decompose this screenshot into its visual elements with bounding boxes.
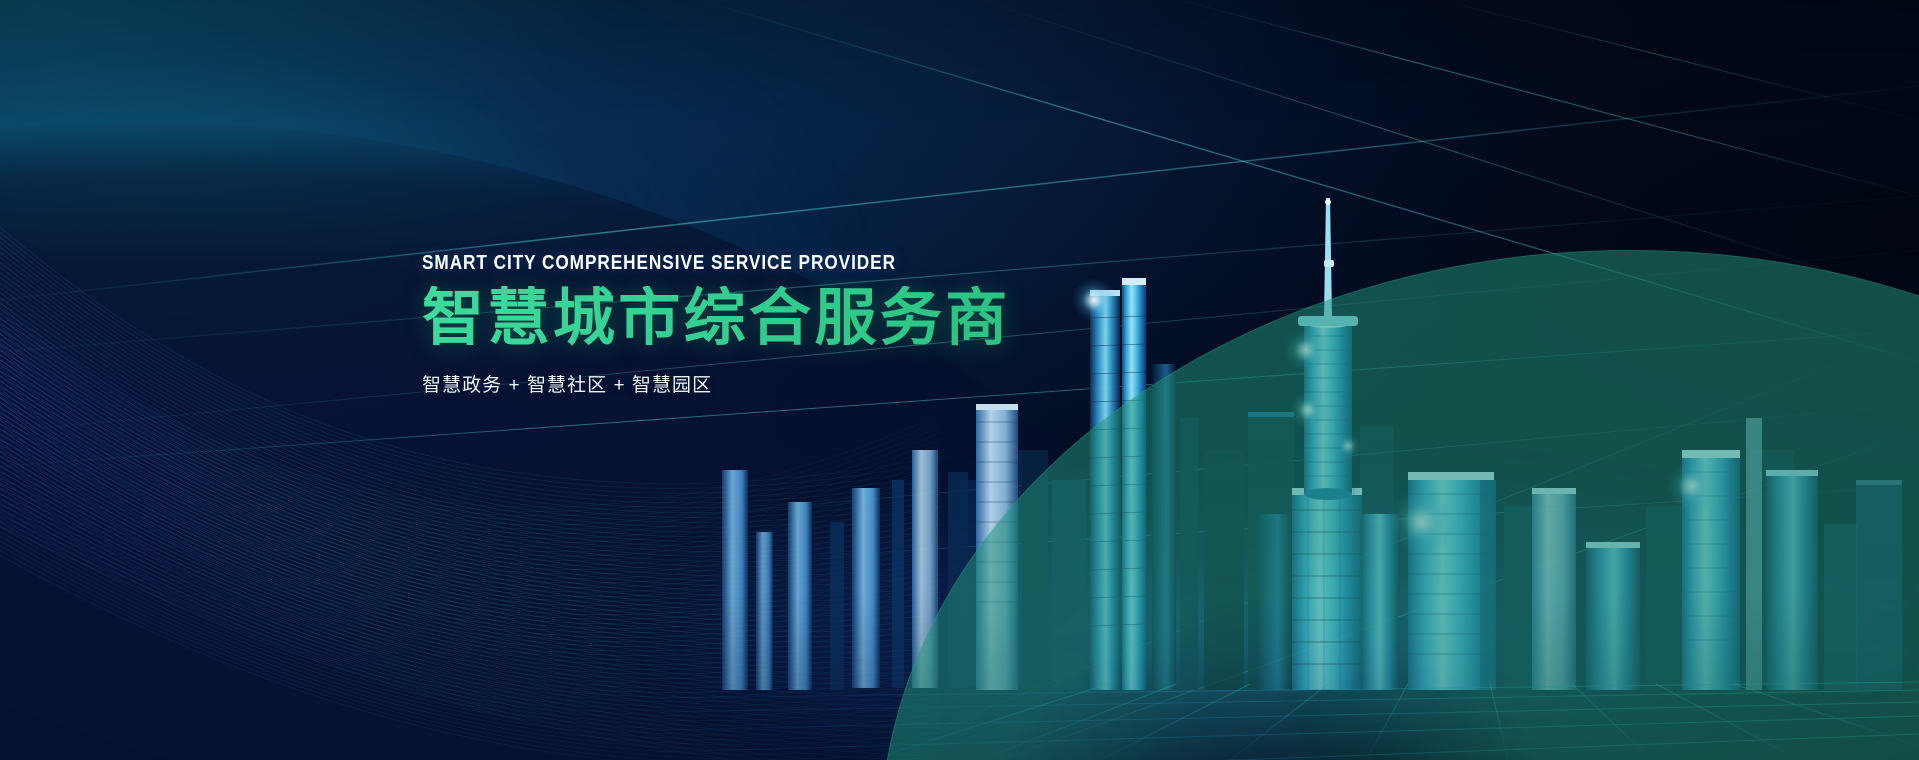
hero-headline: 智慧城市综合服务商	[422, 286, 1182, 352]
hero-eyebrow: SMART CITY COMPREHENSIVE SERVICE PROVIDE…	[422, 253, 1076, 273]
hero-copy-block: SMART CITY COMPREHENSIVE SERVICE PROVIDE…	[422, 253, 1182, 397]
hero-subline: 智慧政务 + 智慧社区 + 智慧园区	[422, 370, 1182, 397]
hero-banner: SMART CITY COMPREHENSIVE SERVICE PROVIDE…	[0, 0, 1919, 760]
